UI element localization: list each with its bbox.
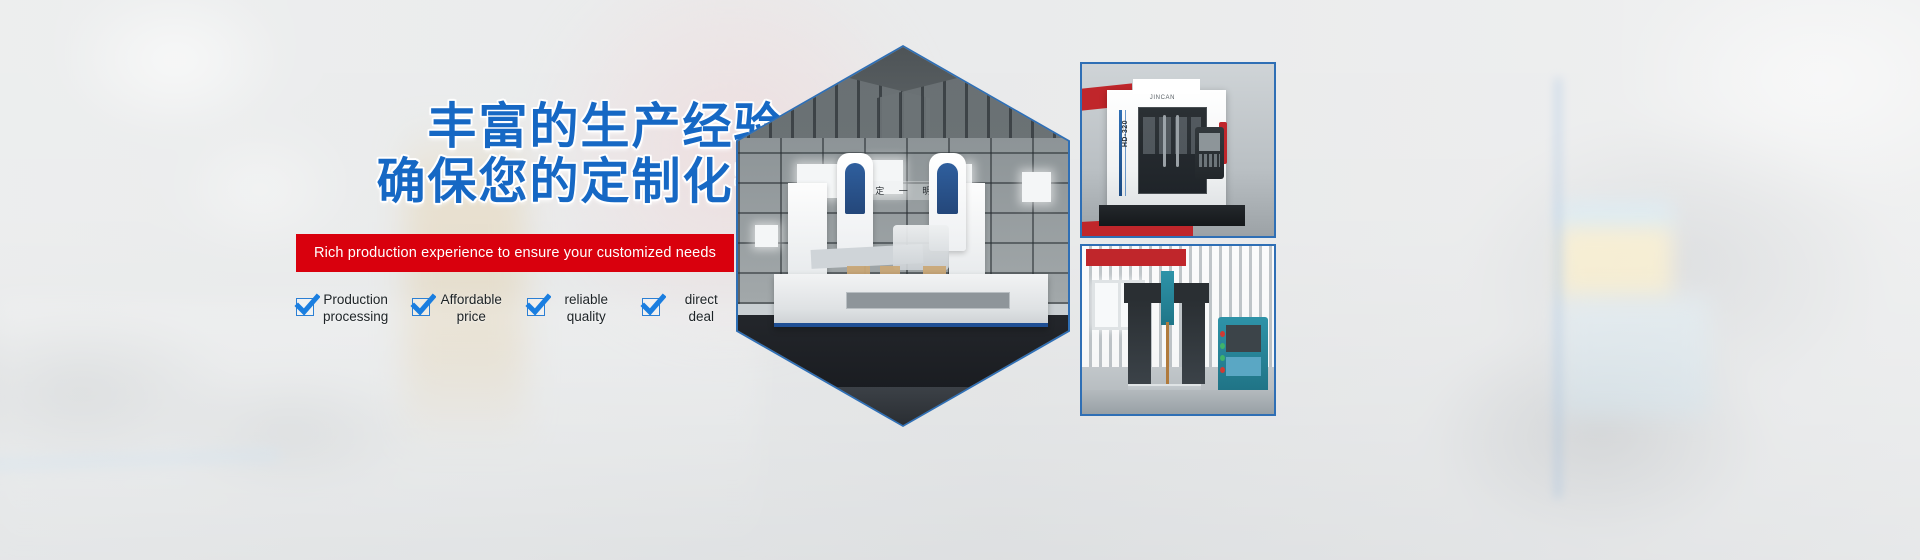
promo-banner: 丰富的生产经验 确保您的定制化需求 Rich production experi…	[0, 0, 1920, 560]
feature-item-production-processing[interactable]: Productionprocessing	[296, 292, 388, 325]
feature-label: Affordableprice	[439, 292, 503, 325]
feature-item-direct-deal[interactable]: directdeal	[642, 292, 733, 325]
feature-label: reliablequality	[554, 292, 618, 325]
feature-item-affordable-price[interactable]: Affordableprice	[412, 292, 503, 325]
machine-model-label: HD-320	[1122, 120, 1129, 147]
thumbnail-boring-machine	[1080, 244, 1276, 416]
subtitle-red-bar: Rich production experience to ensure you…	[296, 234, 734, 272]
checkbox-checked-icon[interactable]	[412, 298, 430, 316]
factory-interior-illustration: 定 一 明	[738, 47, 1068, 425]
hero-hexagon-photo: 定 一 明	[736, 45, 1070, 427]
feature-item-reliable-quality[interactable]: reliablequality	[527, 292, 618, 325]
thumbnail-stack: JINCAN HD-320	[1080, 62, 1276, 416]
subtitle-text: Rich production experience to ensure you…	[314, 245, 716, 261]
checkbox-checked-icon[interactable]	[296, 298, 314, 316]
feature-label: Productionprocessing	[323, 292, 388, 325]
machine-brand-label: JINCAN	[1150, 95, 1175, 101]
feature-label: directdeal	[669, 292, 733, 325]
checkbox-checked-icon[interactable]	[642, 298, 660, 316]
checkbox-checked-icon[interactable]	[527, 298, 545, 316]
thumbnail-machining-center: JINCAN HD-320	[1080, 62, 1276, 238]
hexagon-photo-clip: 定 一 明	[738, 47, 1068, 425]
